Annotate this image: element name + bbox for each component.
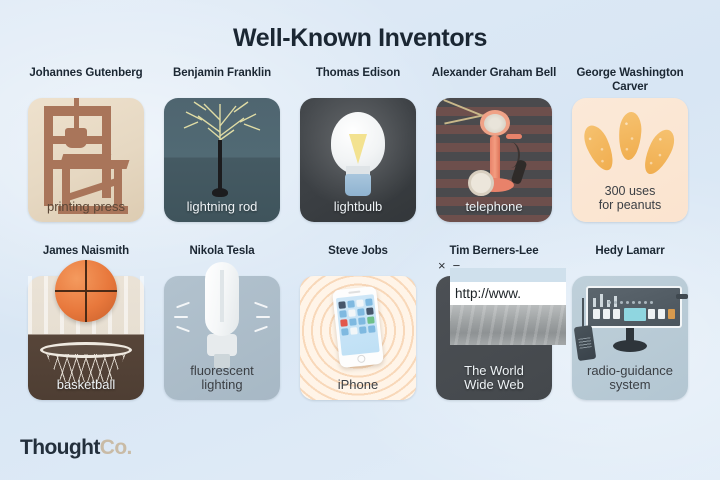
invention-label-line2: Wide Web <box>440 378 548 393</box>
inventor-name: Johannes Gutenberg <box>29 66 142 94</box>
telephone-hook <box>506 134 522 139</box>
sparkle <box>174 316 188 318</box>
page-title: Well-Known Inventors <box>0 24 720 53</box>
invention-card-fluorescent[interactable]: fluorescent lighting <box>164 276 280 400</box>
invention-card-world-wide-web[interactable]: × − http://www. The World Wide Web <box>436 276 552 400</box>
sparkle <box>176 326 190 333</box>
invention-label: The World Wide Web <box>440 364 548 393</box>
invention-card-printing-press[interactable]: printing press <box>28 98 144 222</box>
rod-base <box>212 188 228 197</box>
fluorescent-bulb-icon <box>205 262 239 336</box>
panel-display <box>624 308 646 321</box>
invention-label: radio-guidance system <box>576 364 684 393</box>
inventor-cell-naismith[interactable]: James Naismith basketball <box>18 244 154 400</box>
invention-label: lightbulb <box>304 200 412 215</box>
inventor-cell-gutenberg[interactable]: Johannes Gutenberg printing press <box>18 66 154 222</box>
invention-label: iPhone <box>304 378 412 393</box>
sparkle <box>256 316 270 318</box>
peanuts-icon <box>617 111 642 160</box>
walkie-speaker-grill <box>578 337 591 349</box>
telephone-dial <box>468 170 494 196</box>
invention-label-line2: system <box>576 378 684 393</box>
mouthpiece <box>484 114 506 133</box>
inventor-name: Benjamin Franklin <box>173 66 271 94</box>
peanuts-icon <box>579 122 619 175</box>
invention-card-lightbulb[interactable]: lightbulb <box>300 98 416 222</box>
invention-card-telephone[interactable]: telephone <box>436 98 552 222</box>
browser-content-image <box>450 305 566 345</box>
panel-indicator-dots <box>608 301 653 304</box>
invention-card-peanuts[interactable]: 300 uses for peanuts <box>572 98 688 222</box>
invention-card-lightning-rod[interactable]: lightning rod <box>164 98 280 222</box>
inventor-name: Thomas Edison <box>316 66 400 94</box>
invention-card-radio-guidance[interactable]: radio-guidance system <box>572 276 688 400</box>
infographic-canvas: Well-Known Inventors Johannes Gutenberg … <box>0 0 720 480</box>
panel-buttons-right <box>648 309 675 319</box>
radio-transmitter-icon <box>586 286 682 328</box>
invention-label: 300 uses for peanuts <box>576 184 684 212</box>
inventor-cell-tesla[interactable]: Nikola Tesla fluorescent lighting <box>154 244 290 400</box>
phone-speaker <box>348 291 360 294</box>
microphone-base <box>613 340 647 352</box>
hoop-rim <box>40 342 132 358</box>
phone-screen <box>336 294 380 356</box>
panel-antenna <box>676 294 688 299</box>
minimize-icon[interactable]: − <box>453 259 461 272</box>
invention-label: basketball <box>32 378 140 393</box>
browser-titlebar <box>450 268 566 282</box>
inventor-cell-bell[interactable]: Alexander Graham Bell telephone <box>426 66 562 222</box>
invention-label-line2: lighting <box>168 378 276 393</box>
inventor-name: George Washington Carver <box>562 66 698 94</box>
inventor-name: Alexander Graham Bell <box>432 66 556 94</box>
invention-label-line1: fluorescent <box>168 364 276 379</box>
inventor-cell-berners-lee[interactable]: Tim Berners-Lee × − http://www. The Worl… <box>426 244 562 400</box>
invention-card-iphone[interactable]: iPhone <box>300 276 416 400</box>
invention-label: printing press <box>32 200 140 215</box>
inventor-cell-carver[interactable]: George Washington Carver 300 uses for pe… <box>562 66 698 222</box>
invention-label: fluorescent lighting <box>168 364 276 393</box>
invention-label-line1: The World <box>440 364 548 379</box>
invention-label: telephone <box>440 200 548 215</box>
inventor-name: Hedy Lamarr <box>595 244 664 272</box>
sparkle <box>254 326 268 333</box>
invention-label-line1: 300 uses <box>576 184 684 198</box>
basketball-icon <box>55 260 117 322</box>
inventors-row-1: Johannes Gutenberg printing press Benjam… <box>18 66 702 222</box>
inventor-cell-franklin[interactable]: Benjamin Franklin <box>154 66 290 222</box>
bulb-body <box>207 334 237 356</box>
invention-label-line1: radio-guidance <box>576 364 684 379</box>
sparkle <box>176 302 190 309</box>
inventor-cell-lamarr[interactable]: Hedy Lamarr <box>562 244 698 400</box>
walkie-talkie-icon <box>574 325 597 361</box>
app-grid <box>338 298 375 335</box>
iphone-icon <box>332 286 384 368</box>
bulb-base <box>345 174 371 196</box>
inventors-grid: Johannes Gutenberg printing press Benjam… <box>18 66 702 400</box>
url-bar[interactable]: http://www. <box>450 282 566 305</box>
window-controls[interactable]: × − <box>438 259 460 272</box>
filament <box>349 134 367 164</box>
walkie-antenna <box>582 298 584 328</box>
rod-shaft <box>218 140 222 192</box>
inventors-row-2: James Naismith basketball Nikola Tesla <box>18 244 702 400</box>
logo-text-secondary: Co. <box>100 436 132 459</box>
logo-text-primary: Thought <box>20 436 100 459</box>
invention-label-line2: for peanuts <box>576 198 684 212</box>
phone-home-button <box>357 354 366 363</box>
inventor-cell-jobs[interactable]: Steve Jobs <box>290 244 426 400</box>
inventor-cell-edison[interactable]: Thomas Edison lightbulb <box>290 66 426 222</box>
thoughtco-logo: ThoughtCo. <box>20 436 132 460</box>
sparkle <box>254 302 268 309</box>
close-icon[interactable]: × <box>438 259 446 272</box>
invention-card-basketball[interactable]: basketball <box>28 276 144 400</box>
panel-buttons-left <box>593 309 620 319</box>
inventor-name: Steve Jobs <box>328 244 388 272</box>
peanuts-icon <box>639 126 680 179</box>
invention-label: lightning rod <box>168 200 276 215</box>
